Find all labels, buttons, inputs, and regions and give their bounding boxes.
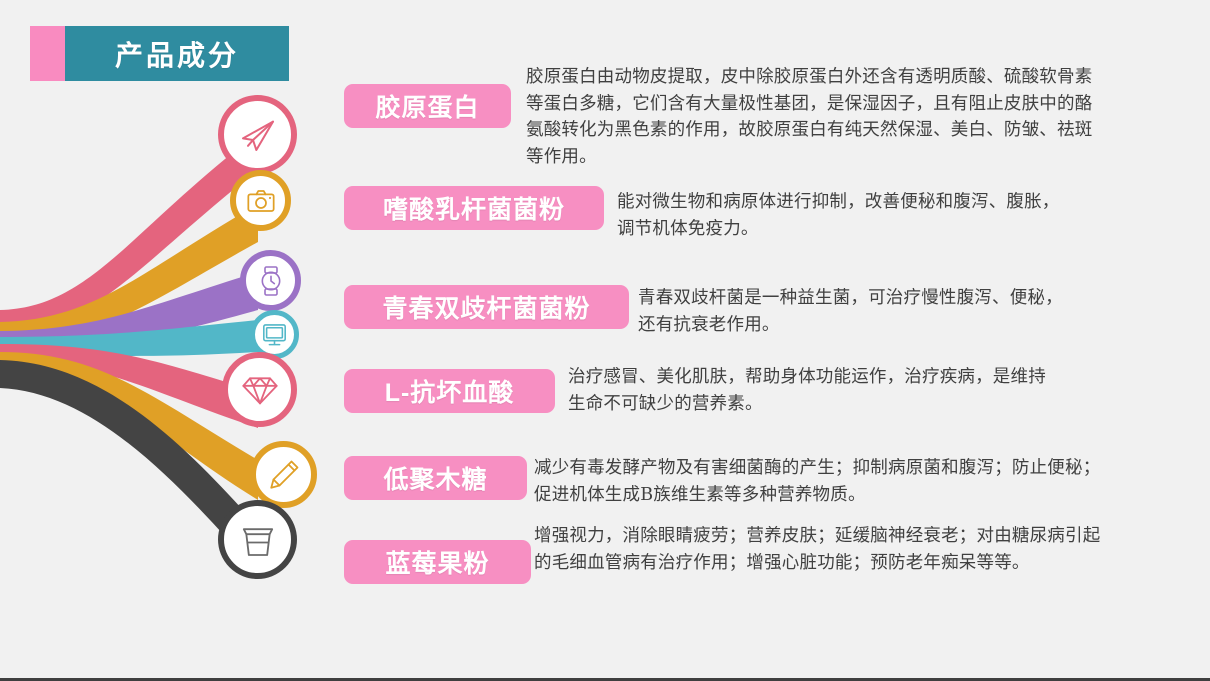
- ingredient-description-2: 能对微生物和病原体进行抑制，改善便秘和腹泻、腹胀，调节机体免疫力。: [617, 189, 1067, 242]
- icon-circle-diamond[interactable]: [222, 352, 297, 427]
- monitor-icon: [261, 321, 288, 348]
- camera-icon: [245, 185, 277, 217]
- icon-circle-watch[interactable]: [240, 250, 301, 311]
- ingredient-pill-1[interactable]: 胶原蛋白: [344, 84, 511, 128]
- paper-plane-icon: [238, 115, 278, 155]
- coffee-cup-icon: [238, 520, 278, 560]
- ingredient-label-2: 嗜酸乳杆菌菌粉: [383, 190, 565, 226]
- ingredient-pill-4[interactable]: L-抗坏血酸: [344, 369, 555, 413]
- ingredient-pill-3[interactable]: 青春双歧杆菌菌粉: [344, 285, 629, 329]
- ingredient-label-5: 低聚木糖: [383, 460, 487, 496]
- ingredient-description-5: 减少有毒发酵产物及有害细菌酶的产生；抑制病原菌和腹泻；防止便秘；促进机体生成B族…: [534, 455, 1112, 508]
- ingredient-label-4: L-抗坏血酸: [385, 373, 515, 409]
- ingredient-description-1: 胶原蛋白由动物皮提取，皮中除胶原蛋白外还含有透明质酸、硫酸软骨素等蛋白多糖，它们…: [526, 64, 1104, 170]
- ingredient-label-3: 青春双歧杆菌菌粉: [382, 289, 590, 325]
- icon-circle-pencil[interactable]: [250, 441, 317, 508]
- ingredient-description-4: 治疗感冒、美化肌肤，帮助身体功能运作，治疗疾病，是维持生命不可缺少的营养素。: [568, 364, 1048, 417]
- ingredient-label-1: 胶原蛋白: [375, 88, 479, 124]
- ingredient-description-3: 青春双歧杆菌是一种益生菌，可治疗慢性腹泻、便秘，还有抗衰老作用。: [638, 285, 1078, 338]
- diamond-icon: [240, 370, 280, 410]
- watch-icon: [255, 265, 287, 297]
- ingredient-pill-5[interactable]: 低聚木糖: [344, 456, 527, 500]
- ingredient-label-6: 蓝莓果粉: [385, 544, 489, 580]
- icon-circle-camera[interactable]: [230, 170, 291, 231]
- icon-circle-coffee-cup[interactable]: [218, 500, 297, 579]
- icon-circle-paper-plane[interactable]: [218, 95, 297, 174]
- ingredient-pill-6[interactable]: 蓝莓果粉: [344, 540, 531, 584]
- pencil-icon: [266, 457, 302, 493]
- ingredient-description-6: 增强视力，消除眼睛疲劳；营养皮肤；延缓脑神经衰老；对由糖尿病引起的毛细血管病有治…: [534, 523, 1112, 576]
- slide-canvas: 产品成分: [0, 0, 1210, 681]
- ingredient-pill-2[interactable]: 嗜酸乳杆菌菌粉: [344, 186, 604, 230]
